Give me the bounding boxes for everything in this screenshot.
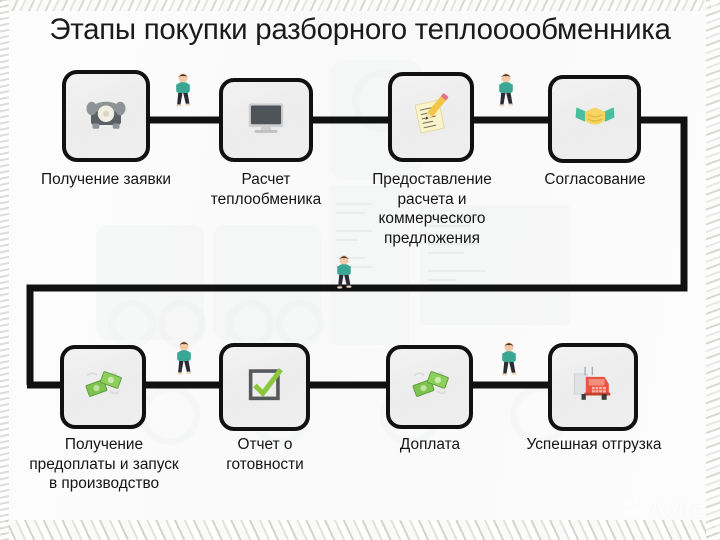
checkbox-checked-icon: [242, 361, 288, 414]
step-4-caption: Согласование: [524, 170, 666, 190]
step-8-box[interactable]: [548, 343, 638, 431]
delivery-truck-icon: [570, 361, 616, 414]
photo-edge-top: [0, 0, 720, 11]
step-2-box[interactable]: [219, 78, 313, 162]
step-1-box[interactable]: [62, 70, 150, 162]
step-1-caption: Получение заявки: [6, 170, 206, 190]
photo-edge-bottom: [0, 520, 720, 540]
handshake-icon: [572, 93, 618, 146]
step-3-caption: Предоставление расчета и коммерческого п…: [358, 170, 506, 248]
step-4-box[interactable]: [548, 75, 641, 163]
photo-edge-left: [0, 0, 9, 540]
walking-person-icon: [333, 255, 355, 289]
desktop-computer-icon: [243, 94, 289, 147]
step-6-box[interactable]: [219, 343, 310, 431]
walking-person-icon: [498, 342, 520, 376]
step-2-caption: Расчет теплообменика: [204, 170, 328, 209]
step-7-box[interactable]: [386, 345, 473, 429]
step-5-caption: Получение предоплаты и запуск в производ…: [9, 435, 199, 494]
walking-person-icon: [172, 73, 194, 107]
step-6-caption: Отчет о готовности: [206, 435, 324, 474]
step-5-box[interactable]: [60, 345, 146, 429]
step-3-box[interactable]: [388, 72, 474, 162]
infographic-canvas: ▬▬▬▬▬▬▬▬▬ ▬▬▬▬▬▬▬▬ ▬▬▬▬▬▬▬▬▬ ▬▬▬▬▬▬▬▬▬▬▬…: [0, 0, 720, 540]
telephone-icon: [82, 89, 130, 144]
page-title: Этапы покупки разборного теплооообменник…: [0, 13, 720, 47]
walking-person-icon: [173, 341, 195, 375]
memo-pencil-icon: [407, 90, 455, 145]
photo-edge-right: [706, 0, 720, 540]
walking-person-icon: [495, 73, 517, 107]
money-with-wings-icon: [80, 361, 126, 414]
step-7-caption: Доплата: [372, 435, 488, 455]
step-8-caption: Успешная отгрузка: [506, 435, 682, 455]
money-with-wings-icon: [407, 361, 453, 414]
